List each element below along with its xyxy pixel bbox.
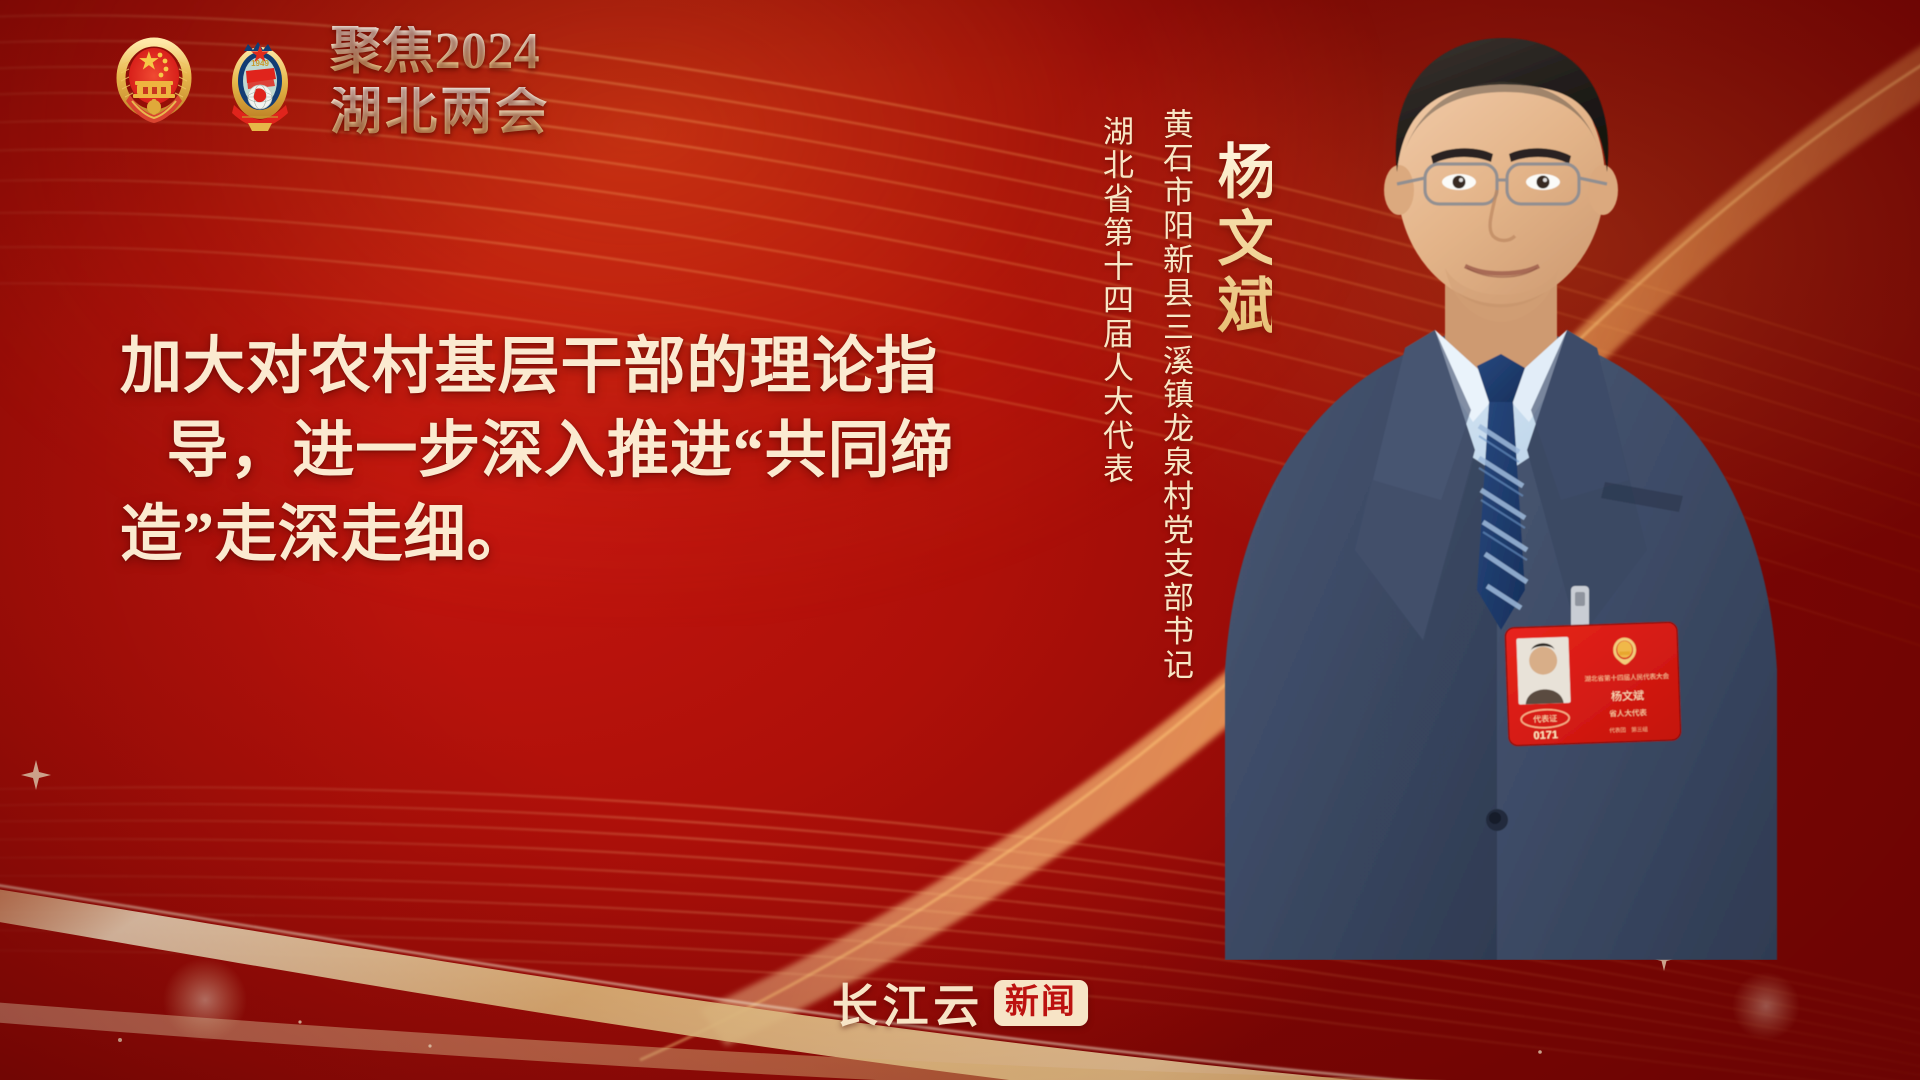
campaign-title-line2: 湖北两会 [330,87,550,139]
svg-text:省人大代表: 省人大代表 [1609,707,1647,718]
campaign-title: 聚焦2024 湖北两会 [330,26,550,139]
cppcc-emblem-icon: 1949 [214,31,306,135]
quote-line-1: 加大对农村基层干部的理论指 [120,325,1000,409]
quote-line-2: 导，进一步深入推进“共同缔 [120,409,1000,493]
campaign-title-line1: 聚焦2024 [330,26,550,78]
quote-line-3: 造”走深走细。 [120,493,1000,577]
channel-logo-text: 长江云 [832,970,984,1036]
person-delegation: 湖北省第十四届人大代表 [1093,115,1138,487]
person-role: 黄石市阳新县三溪镇龙泉村党支部书记 [1153,108,1198,682]
svg-text:0171: 0171 [1533,729,1558,742]
channel-logo: 长江云 新闻 [832,970,1088,1036]
channel-logo-badge: 新闻 [994,980,1088,1026]
svg-text:杨文斌: 杨文斌 [1611,688,1644,703]
quote-block: 加大对农村基层干部的理论指 导，进一步深入推进“共同缔 造”走深走细。 [120,325,1000,577]
person-name: 杨文斌 [1212,140,1272,342]
header: 1949 聚焦202 [108,26,550,139]
national-emblem-of-china-icon [108,31,200,135]
svg-text:1949: 1949 [251,59,269,68]
quote-card-canvas: 1949 聚焦202 [0,0,1920,1080]
svg-text:代表证: 代表证 [1533,713,1557,724]
